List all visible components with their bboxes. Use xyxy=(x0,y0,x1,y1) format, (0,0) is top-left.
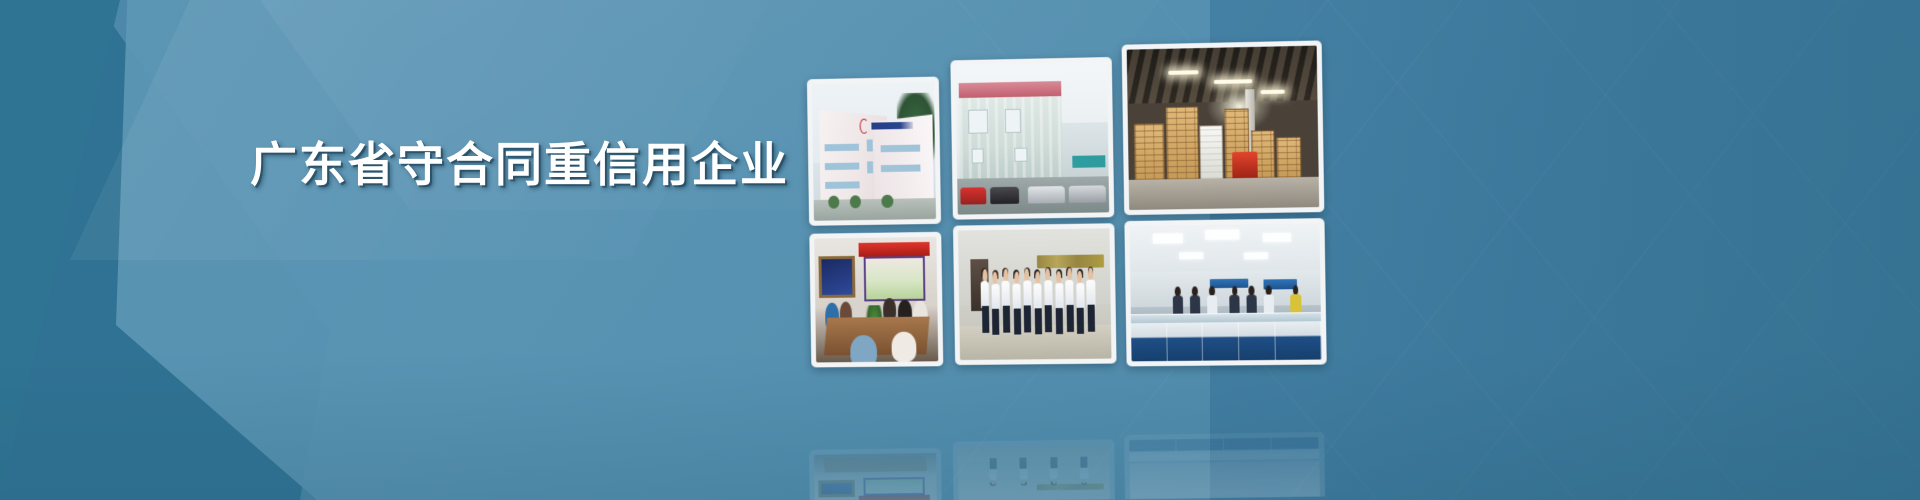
headline-container: 广东省守合同重信用企业 xyxy=(250,125,870,195)
photo-office-building[interactable] xyxy=(807,77,941,226)
photo-warehouse-image xyxy=(1127,46,1319,210)
photo-warehouse[interactable] xyxy=(1122,40,1325,215)
photo-staff-team[interactable] xyxy=(953,223,1117,365)
photo-meeting-room[interactable] xyxy=(809,232,943,368)
photo-open-office-image xyxy=(1129,223,1321,361)
photo-office-building-image xyxy=(812,82,936,221)
photo-factory-exterior[interactable] xyxy=(950,57,1114,220)
photo-open-office[interactable] xyxy=(1124,218,1326,366)
company-banner: 广东省守合同重信用企业 xyxy=(0,0,1920,500)
photo-factory-exterior-image xyxy=(955,62,1109,215)
photo-meeting-room-image xyxy=(814,237,938,363)
banner-headline: 广东省守合同重信用企业 xyxy=(250,126,789,195)
photo-staff-team-image xyxy=(958,228,1111,360)
company-photo-gallery xyxy=(806,40,1326,360)
